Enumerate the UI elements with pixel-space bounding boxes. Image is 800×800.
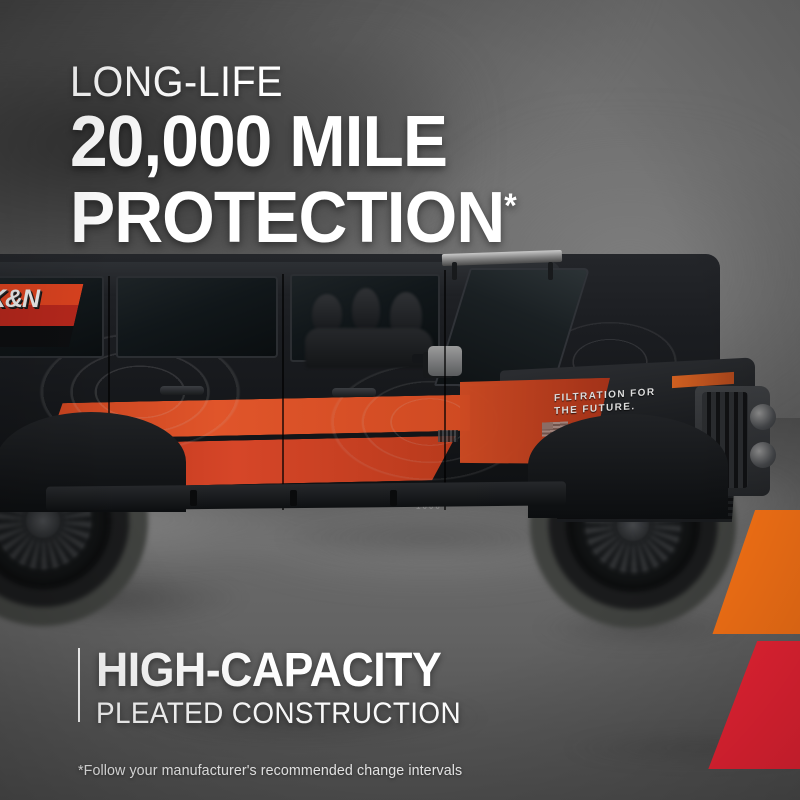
kn-bar-black xyxy=(0,326,74,347)
subhead-block: HIGH-CAPACITY PLEATED CONSTRUCTION xyxy=(70,645,488,731)
vertical-divider-rule xyxy=(78,648,80,722)
rear-door-window xyxy=(116,276,278,358)
rocker-side-step xyxy=(46,481,566,510)
body-vent xyxy=(438,430,458,442)
headline-line-2: PROTECTION* xyxy=(70,182,728,254)
panel-seam xyxy=(444,270,446,510)
occupant-middle xyxy=(352,288,380,332)
headline-line-2-text: PROTECTION xyxy=(70,178,504,258)
front-door-handle xyxy=(332,388,376,397)
kn-logo-text: K&N xyxy=(0,286,39,312)
rocker-bolt xyxy=(290,490,297,506)
advertisement-canvas: 1000 K&N FILTRATION FOR THE FUTURE. xyxy=(0,0,800,800)
rocker-bolt xyxy=(190,490,197,506)
light-bar-mount xyxy=(452,262,457,280)
panel-seam xyxy=(282,274,284,510)
subhead-subtitle: PLEATED CONSTRUCTION xyxy=(96,697,461,731)
light-bar-mount xyxy=(548,262,553,280)
subhead-title: HIGH-CAPACITY xyxy=(96,645,461,697)
headline-block: LONG-LIFE 20,000 MILE PROTECTION* xyxy=(70,58,770,254)
rocker-bolt xyxy=(390,490,397,506)
headline-line-1: 20,000 MILE xyxy=(70,106,728,178)
subhead-text-group: HIGH-CAPACITY PLEATED CONSTRUCTION xyxy=(96,645,488,731)
eyebrow-text: LONG-LIFE xyxy=(70,58,714,106)
vehicle-jeep-wrangler: 1000 K&N FILTRATION FOR THE FUTURE. xyxy=(0,236,790,636)
rear-door-handle xyxy=(160,386,204,395)
headlamp xyxy=(750,404,776,430)
headlamp xyxy=(750,442,776,468)
footnote-disclaimer: *Follow your manufacturer's recommended … xyxy=(78,762,462,780)
asterisk-marker: * xyxy=(504,187,516,225)
